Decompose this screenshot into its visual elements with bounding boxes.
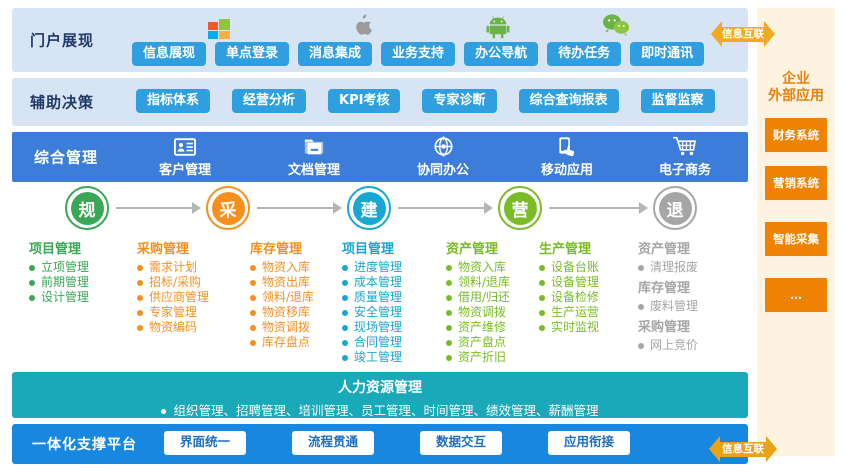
flow-arrow-head xyxy=(333,202,342,214)
bullet-dot-icon xyxy=(137,265,143,271)
detail-list-item[interactable]: 物资调拨 xyxy=(250,320,314,335)
bullet-dot-icon xyxy=(539,325,545,331)
os-icon-row xyxy=(132,12,732,40)
detail-column-list: 物资入库物资出库领料/退库物资移库物资调拨库存盘点 xyxy=(250,260,314,350)
bullet-dot-icon xyxy=(161,409,166,414)
info-interlink-bottom: 信息互联 xyxy=(720,436,766,462)
decision-pill[interactable]: 经营分析 xyxy=(232,89,306,113)
bullet-dot-icon xyxy=(342,325,348,331)
bullet-dot-icon xyxy=(342,310,348,316)
detail-column-title: 采购管理 xyxy=(638,316,698,335)
portal-pill[interactable]: 待办任务 xyxy=(547,42,621,66)
platform-button[interactable]: 应用衔接 xyxy=(548,431,630,455)
decision-pill-row: 指标体系 经营分析 KPI考核 专家诊断 综合查询报表 监督监察 xyxy=(136,89,715,113)
detail-list-item[interactable]: 物资入库 xyxy=(250,260,314,275)
detail-list-item[interactable]: 设计管理 xyxy=(29,290,89,305)
flow-arrow-line xyxy=(116,207,194,209)
detail-list-item[interactable]: 资产盘点 xyxy=(446,335,510,350)
detail-column: 项目管理立项管理前期管理设计管理 xyxy=(29,238,89,305)
flow-node-plan[interactable]: 规 xyxy=(65,186,109,230)
android-icon xyxy=(486,13,510,43)
bullet-dot-icon xyxy=(342,265,348,271)
detail-list-item[interactable]: 物资移库 xyxy=(250,305,314,320)
detail-list-item-label: 物资入库 xyxy=(262,260,310,275)
detail-list-item-label: 质量管理 xyxy=(354,290,402,305)
detail-list-item[interactable]: 专家管理 xyxy=(137,305,209,320)
bullet-dot-icon xyxy=(250,280,256,286)
decision-label: 辅助决策 xyxy=(30,92,94,113)
detail-list-item[interactable]: 成本管理 xyxy=(342,275,402,290)
hr-band: 人力资源管理 组织管理、招聘管理、培训管理、员工管理、时间管理、绩效管理、薪酬管… xyxy=(12,372,748,418)
integrated-item-ecommerce[interactable]: 电子商务 xyxy=(630,135,740,178)
hr-title: 人力资源管理 xyxy=(12,377,748,397)
detail-list-item-label: 需求计划 xyxy=(149,260,197,275)
integrated-item-document[interactable]: 文档管理 xyxy=(259,135,369,178)
detail-column-list: 废料管理 xyxy=(638,299,698,314)
lifecycle-flow: 规 采 建 营 退 xyxy=(12,186,748,236)
bullet-dot-icon xyxy=(539,310,545,316)
bullet-dot-icon xyxy=(446,280,452,286)
detail-column-title: 资产管理 xyxy=(638,238,698,257)
mobile-tap-icon xyxy=(512,135,622,158)
detail-list-item[interactable]: 物资入库 xyxy=(446,260,510,275)
detail-list-item[interactable]: 供应商管理 xyxy=(137,290,209,305)
flow-arrow-line xyxy=(549,207,641,209)
detail-list-item-label: 进度管理 xyxy=(354,260,402,275)
bullet-dot-icon xyxy=(342,340,348,346)
bullet-dot-icon xyxy=(250,325,256,331)
integrated-item-label: 协同办公 xyxy=(388,159,498,178)
detail-list-item-label: 资产维修 xyxy=(458,320,506,335)
integrated-management-band: 综合管理 客户管理 xyxy=(12,132,748,182)
detail-list-item-label: 招标/采购 xyxy=(149,275,201,290)
sidebar-title: 企业 外部应用 xyxy=(757,71,835,105)
portal-pill[interactable]: 单点登录 xyxy=(215,42,289,66)
decision-pill[interactable]: 指标体系 xyxy=(136,89,210,113)
detail-list-item-label: 资产盘点 xyxy=(458,335,506,350)
flow-arrow-head xyxy=(192,202,201,214)
bullet-dot-icon xyxy=(446,355,452,361)
bullet-dot-icon xyxy=(250,295,256,301)
sidebar-button-smart-collection[interactable]: 智能采集 xyxy=(765,222,827,256)
sidebar-title-line2: 外部应用 xyxy=(757,88,835,105)
detail-list-item-label: 网上竞价 xyxy=(650,338,698,353)
integrated-item-collaboration[interactable]: 协同办公 xyxy=(388,135,498,178)
integrated-item-customer[interactable]: 客户管理 xyxy=(130,135,240,178)
hr-subtitle: 组织管理、招聘管理、培训管理、员工管理、时间管理、绩效管理、薪酬管理 xyxy=(173,403,598,418)
bullet-dot-icon xyxy=(137,325,143,331)
detail-list-item-label: 设备检修 xyxy=(551,290,599,305)
detail-list-item[interactable]: 领料/退库 xyxy=(446,275,510,290)
info-interlink-bottom-label: 信息互联 xyxy=(722,444,764,455)
apple-icon xyxy=(352,13,376,43)
portal-pill[interactable]: 消息集成 xyxy=(298,42,372,66)
detail-column: 生产管理设备台账设备管理设备检修生产运营实时监视 xyxy=(539,238,599,335)
detail-list-item-label: 供应商管理 xyxy=(149,290,209,305)
detail-list-item[interactable]: 废料管理 xyxy=(638,299,698,314)
platform-band: 一体化支撑平台 界面统一 流程贯通 数据交互 应用衔接 xyxy=(12,424,748,464)
integrated-management-label: 综合管理 xyxy=(34,147,98,168)
detail-column-title: 资产管理 xyxy=(446,238,510,257)
bullet-dot-icon xyxy=(137,280,143,286)
bullet-dot-icon xyxy=(539,295,545,301)
detail-list-item-label: 清理报废 xyxy=(650,260,698,275)
detail-list-item-label: 物资调拨 xyxy=(262,320,310,335)
info-interlink-top-label: 信息互联 xyxy=(722,29,764,40)
detail-list-item[interactable]: 进度管理 xyxy=(342,260,402,275)
decision-pill[interactable]: 专家诊断 xyxy=(422,89,496,113)
detail-list-item[interactable]: 前期管理 xyxy=(29,275,89,290)
portal-pill[interactable]: 办公导航 xyxy=(464,42,538,66)
detail-list-item-label: 资产折旧 xyxy=(458,350,506,365)
detail-column-title: 生产管理 xyxy=(539,238,599,257)
detail-list-item-label: 实时监视 xyxy=(551,320,599,335)
bullet-dot-icon xyxy=(137,310,143,316)
integrated-items: 客户管理 文档管理 xyxy=(130,135,742,181)
platform-buttons: 界面统一 流程贯通 数据交互 应用衔接 xyxy=(164,431,630,455)
flow-node-procure[interactable]: 采 xyxy=(206,186,250,230)
flow-arrow-head xyxy=(639,202,648,214)
detail-list-item[interactable]: 设备台账 xyxy=(539,260,599,275)
detail-list-item-label: 物资移库 xyxy=(262,305,310,320)
detail-column-list: 进度管理成本管理质量管理安全管理现场管理合同管理竣工管理 xyxy=(342,260,402,365)
detail-list-item-label: 借用/归还 xyxy=(458,290,510,305)
portal-pill[interactable]: 业务支持 xyxy=(381,42,455,66)
detail-list-item-label: 设备台账 xyxy=(551,260,599,275)
detail-list-item[interactable]: 安全管理 xyxy=(342,305,402,320)
detail-list-item[interactable]: 资产折旧 xyxy=(446,350,510,365)
sidebar-button-finance[interactable]: 财务系统 xyxy=(765,118,827,152)
detail-list-item-label: 物资编码 xyxy=(149,320,197,335)
architecture-diagram: 门户展现 xyxy=(0,0,844,476)
detail-list-item[interactable]: 需求计划 xyxy=(137,260,209,275)
bullet-dot-icon xyxy=(638,304,644,310)
bullet-dot-icon xyxy=(342,280,348,286)
detail-column-title: 项目管理 xyxy=(342,238,402,257)
double-arrow-icon: 信息互联 xyxy=(720,442,766,457)
bullet-dot-icon xyxy=(29,265,35,271)
detail-list-item[interactable]: 设备管理 xyxy=(539,275,599,290)
detail-list-item[interactable]: 物资出库 xyxy=(250,275,314,290)
detail-column: 采购管理需求计划招标/采购供应商管理专家管理物资编码 xyxy=(137,238,209,335)
document-folder-icon xyxy=(259,135,369,158)
detail-column-list: 设备台账设备管理设备检修生产运营实时监视 xyxy=(539,260,599,335)
detail-list-item-label: 安全管理 xyxy=(354,305,402,320)
platform-button[interactable]: 流程贯通 xyxy=(292,431,374,455)
detail-list-item[interactable]: 物资调拨 xyxy=(446,305,510,320)
bullet-dot-icon xyxy=(638,343,644,349)
sidebar-title-line1: 企业 xyxy=(757,71,835,88)
detail-column-list: 清理报废 xyxy=(638,260,698,275)
bullet-dot-icon xyxy=(539,280,545,286)
portal-label: 门户展现 xyxy=(30,30,94,51)
double-arrow-icon: 信息互联 xyxy=(722,27,764,42)
detail-column: 资产管理物资入库领料/退库借用/归还物资调拨资产维修资产盘点资产折旧 xyxy=(446,238,510,365)
portal-pill-row: 信息展现 单点登录 消息集成 业务支持 办公导航 待办任务 即时通讯 xyxy=(132,42,704,66)
detail-list-item-label: 领料/退库 xyxy=(458,275,510,290)
platform-button[interactable]: 数据交互 xyxy=(420,431,502,455)
detail-list-item-label: 专家管理 xyxy=(149,305,197,320)
detail-list-item-label: 成本管理 xyxy=(354,275,402,290)
bullet-dot-icon xyxy=(446,340,452,346)
detail-list-item[interactable]: 立项管理 xyxy=(29,260,89,275)
flow-node-retire[interactable]: 退 xyxy=(653,186,697,230)
collaboration-globe-icon xyxy=(388,135,498,158)
detail-list-item[interactable]: 生产运营 xyxy=(539,305,599,320)
flow-arrow-head xyxy=(484,202,493,214)
decision-pill[interactable]: 综合查询报表 xyxy=(519,89,619,113)
detail-list-item-label: 设备管理 xyxy=(551,275,599,290)
detail-column-list: 物资入库领料/退库借用/归还物资调拨资产维修资产盘点资产折旧 xyxy=(446,260,510,365)
detail-list-item-label: 领料/退库 xyxy=(262,290,314,305)
bullet-dot-icon xyxy=(250,265,256,271)
detail-list-item[interactable]: 现场管理 xyxy=(342,320,402,335)
portal-band: 门户展现 xyxy=(12,8,748,72)
sidebar-button-more[interactable]: … xyxy=(765,278,827,312)
flow-node-build[interactable]: 建 xyxy=(347,186,391,230)
detail-list-item[interactable]: 资产维修 xyxy=(446,320,510,335)
detail-column-list: 需求计划招标/采购供应商管理专家管理物资编码 xyxy=(137,260,209,335)
detail-column: 项目管理进度管理成本管理质量管理安全管理现场管理合同管理竣工管理 xyxy=(342,238,402,365)
bullet-dot-icon xyxy=(250,340,256,346)
detail-list-item[interactable]: 清理报废 xyxy=(638,260,698,275)
detail-column-title: 库存管理 xyxy=(250,238,314,257)
detail-column-list: 网上竞价 xyxy=(638,338,698,353)
bullet-dot-icon xyxy=(539,265,545,271)
detail-list-item[interactable]: 网上竞价 xyxy=(638,338,698,353)
detail-list-item[interactable]: 竣工管理 xyxy=(342,350,402,365)
bullet-dot-icon xyxy=(137,295,143,301)
bullet-dot-icon xyxy=(446,265,452,271)
bullet-dot-icon xyxy=(29,280,35,286)
portal-pill[interactable]: 信息展现 xyxy=(132,42,206,66)
sidebar-button-marketing[interactable]: 营销系统 xyxy=(765,166,827,200)
detail-column-title: 库存管理 xyxy=(638,277,698,296)
wechat-icon xyxy=(602,13,630,41)
portal-pill[interactable]: 即时通讯 xyxy=(630,42,704,66)
hr-subtitle-row: 组织管理、招聘管理、培训管理、员工管理、时间管理、绩效管理、薪酬管理 xyxy=(12,400,748,419)
platform-button[interactable]: 界面统一 xyxy=(164,431,246,455)
detail-list-item[interactable]: 实时监视 xyxy=(539,320,599,335)
detail-list-item-label: 现场管理 xyxy=(354,320,402,335)
bullet-dot-icon xyxy=(446,295,452,301)
decision-band: 辅助决策 指标体系 经营分析 KPI考核 专家诊断 综合查询报表 监督监察 xyxy=(12,78,748,126)
detail-list-item-label: 废料管理 xyxy=(650,299,698,314)
detail-list-item[interactable]: 质量管理 xyxy=(342,290,402,305)
shopping-cart-icon xyxy=(630,135,740,158)
detail-list-item-label: 立项管理 xyxy=(41,260,89,275)
decision-pill[interactable]: 监督监察 xyxy=(641,89,715,113)
detail-list-item[interactable]: 领料/退库 xyxy=(250,290,314,305)
bullet-dot-icon xyxy=(29,295,35,301)
detail-column-retire: 资产管理清理报废库存管理废料管理采购管理网上竞价 xyxy=(638,238,698,355)
main-column: 门户展现 xyxy=(12,8,748,464)
detail-list-item-label: 设计管理 xyxy=(41,290,89,305)
detail-columns: 项目管理立项管理前期管理设计管理采购管理需求计划招标/采购供应商管理专家管理物资… xyxy=(12,238,748,366)
integrated-item-label: 文档管理 xyxy=(259,159,369,178)
bullet-dot-icon xyxy=(250,310,256,316)
bullet-dot-icon xyxy=(342,295,348,301)
detail-list-item[interactable]: 设备检修 xyxy=(539,290,599,305)
bullet-dot-icon xyxy=(446,310,452,316)
detail-column: 库存管理物资入库物资出库领料/退库物资移库物资调拨库存盘点 xyxy=(250,238,314,350)
decision-pill[interactable]: KPI考核 xyxy=(328,89,400,113)
detail-list-item-label: 物资出库 xyxy=(262,275,310,290)
detail-list-item-label: 前期管理 xyxy=(41,275,89,290)
detail-list-item-label: 物资调拨 xyxy=(458,305,506,320)
bullet-dot-icon xyxy=(342,355,348,361)
flow-arrow-line xyxy=(257,207,335,209)
customer-card-icon xyxy=(130,135,240,158)
platform-label: 一体化支撑平台 xyxy=(32,434,137,454)
integrated-item-label: 移动应用 xyxy=(512,159,622,178)
integrated-item-mobile[interactable]: 移动应用 xyxy=(512,135,622,178)
integrated-item-label: 电子商务 xyxy=(630,159,740,178)
detail-list-item-label: 生产运营 xyxy=(551,305,599,320)
flow-arrow-line xyxy=(398,207,486,209)
detail-list-item-label: 合同管理 xyxy=(354,335,402,350)
detail-list-item[interactable]: 借用/归还 xyxy=(446,290,510,305)
detail-column-title: 项目管理 xyxy=(29,238,89,257)
detail-list-item[interactable]: 库存盘点 xyxy=(250,335,314,350)
flow-node-operate[interactable]: 营 xyxy=(498,186,542,230)
windows-icon xyxy=(206,13,232,43)
bullet-dot-icon xyxy=(638,265,644,271)
detail-column-title: 采购管理 xyxy=(137,238,209,257)
detail-list-item-label: 库存盘点 xyxy=(262,335,310,350)
detail-list-item[interactable]: 招标/采购 xyxy=(137,275,209,290)
info-interlink-top: 信息互联 xyxy=(722,21,764,47)
detail-list-item-label: 竣工管理 xyxy=(354,350,402,365)
detail-list-item[interactable]: 物资编码 xyxy=(137,320,209,335)
detail-list-item-label: 物资入库 xyxy=(458,260,506,275)
external-applications-sidebar: 企业 外部应用 财务系统 营销系统 智能采集 … xyxy=(757,8,835,456)
detail-list-item[interactable]: 合同管理 xyxy=(342,335,402,350)
integrated-item-label: 客户管理 xyxy=(130,159,240,178)
detail-column-list: 立项管理前期管理设计管理 xyxy=(29,260,89,305)
bullet-dot-icon xyxy=(446,325,452,331)
